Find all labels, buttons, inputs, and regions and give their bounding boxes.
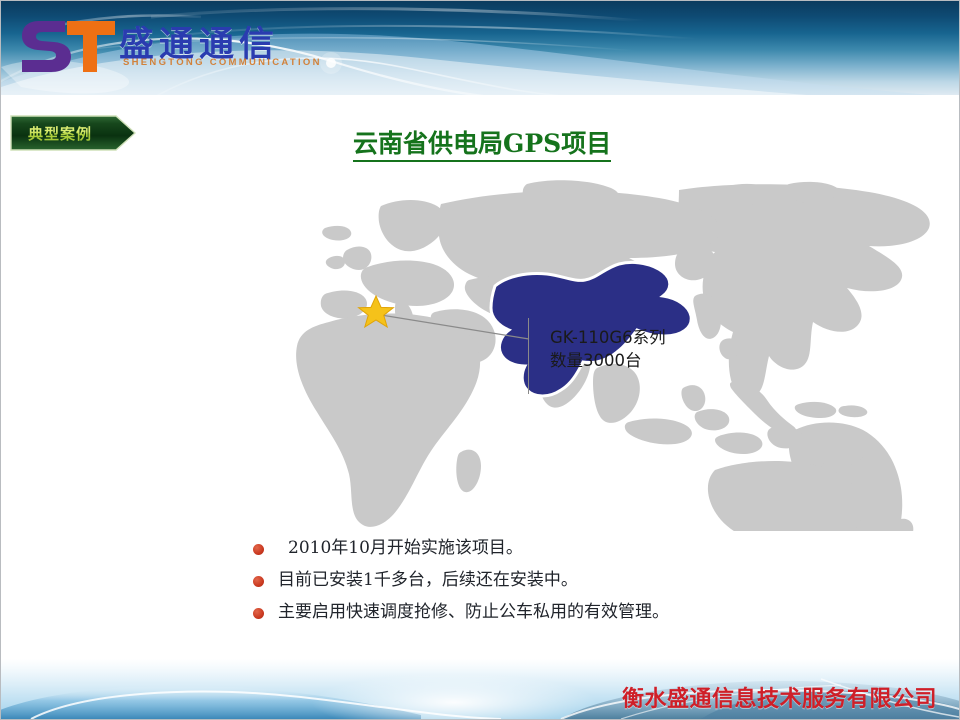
list-item-label: 2010年10月开始实施该项目。 bbox=[278, 537, 523, 560]
callout-line-1: GK-110G6系列 bbox=[550, 326, 666, 349]
callout-text: GK-110G6系列 数量3000台 bbox=[550, 326, 666, 373]
footer-banner: 衡水盛通信息技术服务有限公司 bbox=[1, 659, 959, 719]
bullet-dot-icon bbox=[253, 576, 264, 587]
list-item: 2010年10月开始实施该项目。 bbox=[253, 537, 893, 563]
bullet-dot-icon bbox=[253, 544, 264, 555]
page-title: 云南省供电局GPS项目 bbox=[353, 129, 611, 162]
world-map-svg bbox=[29, 176, 941, 531]
st-monogram-icon bbox=[19, 15, 119, 77]
slide-canvas: 盛通通信 SHENGTONG COMMUNICATION 典型案例 云南省供电局… bbox=[0, 0, 960, 720]
section-tag: 典型案例 bbox=[10, 115, 136, 151]
bullet-list: 2010年10月开始实施该项目。 目前已安装1千多台，后续还在安装中。 主要启用… bbox=[253, 537, 893, 633]
list-item: 主要启用快速调度抢修、防止公车私用的有效管理。 bbox=[253, 601, 893, 627]
world-map bbox=[29, 176, 941, 531]
footer-company-name: 衡水盛通信息技术服务有限公司 bbox=[622, 681, 937, 713]
callout-bar bbox=[528, 318, 529, 394]
list-item: 目前已安装1千多台，后续还在安装中。 bbox=[253, 569, 893, 595]
logo-english-name: SHENGTONG COMMUNICATION bbox=[123, 57, 322, 68]
list-item-label: 主要启用快速调度抢修、防止公车私用的有效管理。 bbox=[278, 601, 669, 624]
list-item-label: 目前已安装1千多台，后续还在安装中。 bbox=[278, 569, 578, 592]
map-callout: GK-110G6系列 数量3000台 bbox=[528, 318, 754, 394]
header-banner: 盛通通信 SHENGTONG COMMUNICATION bbox=[1, 1, 959, 95]
callout-line-2: 数量3000台 bbox=[550, 349, 666, 372]
logo-plate: 盛通通信 SHENGTONG COMMUNICATION bbox=[1, 1, 301, 95]
section-tag-label: 典型案例 bbox=[10, 115, 110, 151]
bullet-dot-icon bbox=[253, 608, 264, 619]
